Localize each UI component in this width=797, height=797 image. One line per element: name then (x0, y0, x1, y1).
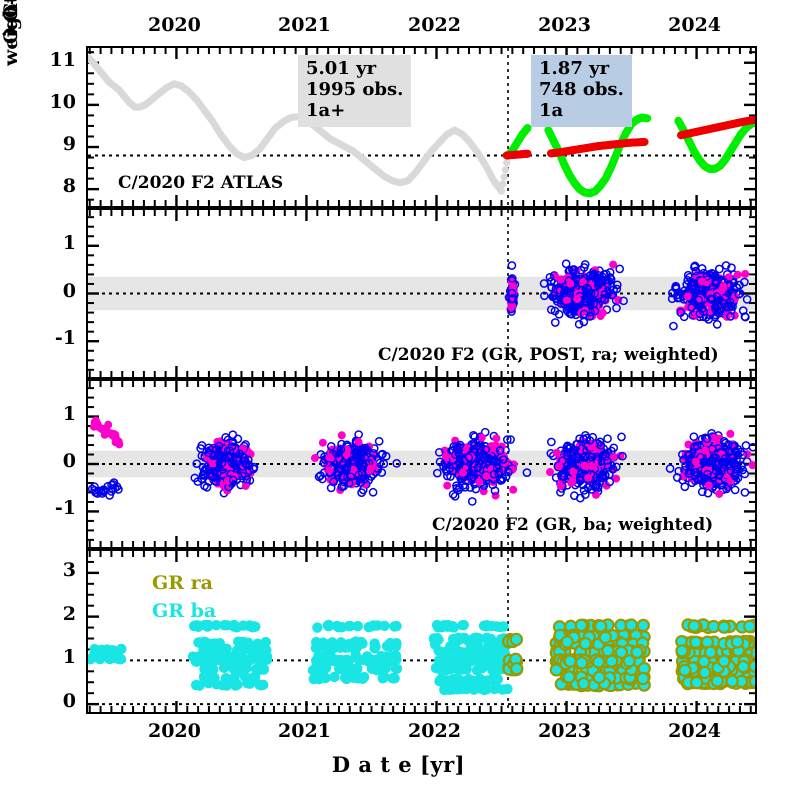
bottom-xtick-2021: 2021 (266, 720, 342, 742)
weights-legend-gr-ra: GR ra (152, 572, 213, 594)
weights-ytick-2: 2 (44, 603, 76, 625)
legend-right-line2: 748 obs. (539, 80, 624, 101)
top-xtick-2022: 2022 (397, 14, 473, 36)
panel-oc-ba-annotation: C/2020 F2 (GR, ba; weighted) (432, 515, 713, 535)
weights-ytick-3: 3 (44, 559, 76, 581)
weights-legend-gr-ba: GR ba (152, 600, 216, 622)
bottom-xtick-2023: 2023 (527, 720, 603, 742)
top-xtick-2024: 2024 (657, 14, 733, 36)
distance-ytick-10: 10 (44, 91, 76, 113)
legend-box-right: 1.87 yr 748 obs. 1a (531, 55, 632, 127)
bottom-xtick-2020: 2020 (136, 720, 212, 742)
top-xtick-2021: 2021 (266, 14, 342, 36)
panel-weights-ylabel: weights (0, 0, 22, 66)
x-axis-label: D a t e [yr] (0, 752, 797, 777)
legend-left-line2: 1995 obs. (306, 80, 403, 101)
distance-ytick-11: 11 (44, 49, 76, 71)
oc-ba-ytick--1: -1 (40, 497, 76, 519)
panel-distance-annotation: C/2020 F2 ATLAS (118, 173, 283, 193)
oc-ba-ytick-0: 0 (40, 450, 76, 472)
bottom-xtick-2024: 2024 (657, 720, 733, 742)
figure-root: 20202021202220232024 distance [au] 89101… (0, 0, 797, 797)
distance-ytick-9: 9 (44, 133, 76, 155)
top-xtick-2020: 2020 (136, 14, 212, 36)
oc-post-ra-ytick-0: 0 (40, 280, 76, 302)
legend-right-line3: 1a (539, 101, 624, 122)
oc-post-ra-ytick--1: -1 (40, 327, 76, 349)
legend-right-line1: 1.87 yr (539, 59, 624, 80)
weights-ytick-0: 0 (44, 690, 76, 712)
legend-left-line3: 1a+ (306, 101, 403, 122)
legend-left-line1: 5.01 yr (306, 59, 403, 80)
weights-ytick-1: 1 (44, 646, 76, 668)
oc-ba-ytick-1: 1 (40, 403, 76, 425)
legend-box-left: 5.01 yr 1995 obs. 1a+ (298, 55, 411, 127)
panel-oc-post-ra-annotation: C/2020 F2 (GR, POST, ra; weighted) (378, 345, 719, 365)
bottom-xtick-2022: 2022 (397, 720, 473, 742)
distance-ytick-8: 8 (44, 175, 76, 197)
top-xtick-2023: 2023 (527, 14, 603, 36)
oc-post-ra-ytick-1: 1 (40, 232, 76, 254)
